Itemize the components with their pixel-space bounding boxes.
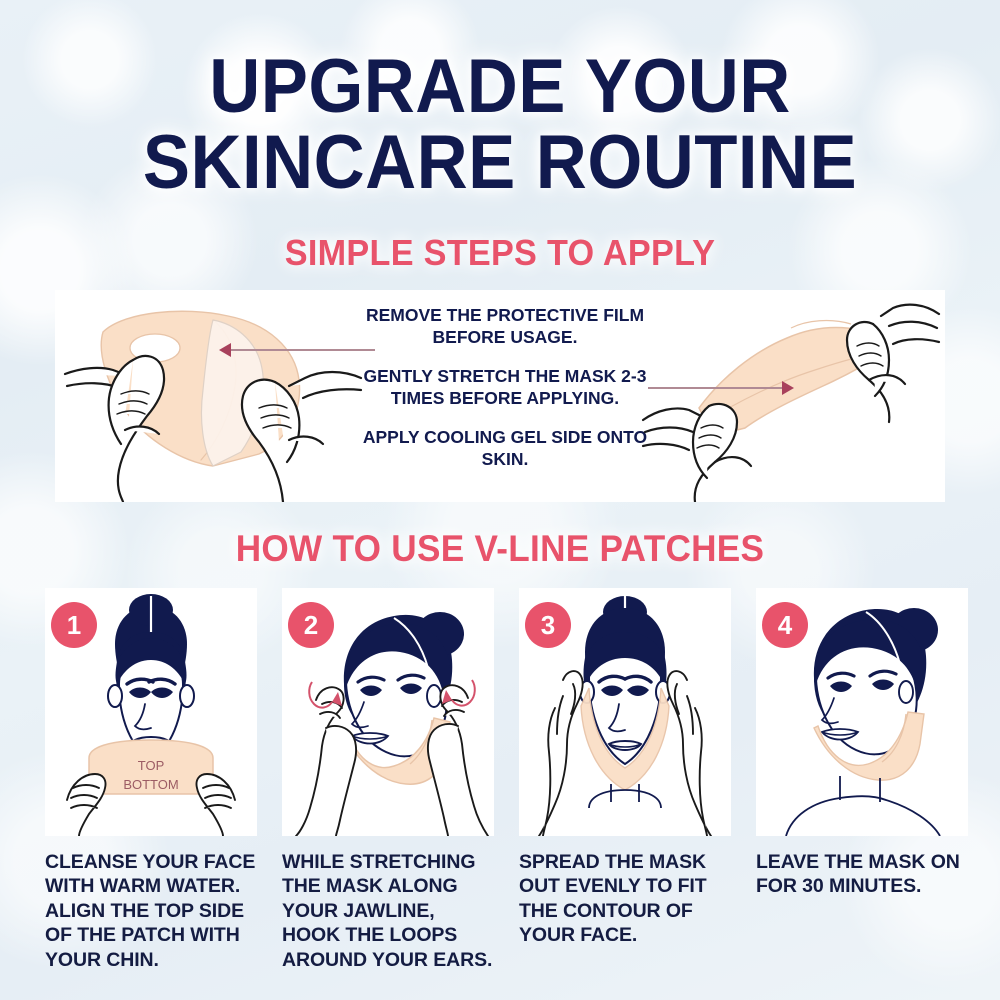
step-3-illustration: 3 <box>519 588 731 836</box>
step-number-badge-4: 4 <box>762 602 808 648</box>
step-card-2: 2 <box>282 588 494 972</box>
patch-label-bottom: BOTTOM <box>123 777 178 792</box>
step-2-illustration: 2 <box>282 588 494 836</box>
apply-instruction-list: REMOVE THE PROTECTIVE FILM BEFORE USAGE.… <box>355 304 655 470</box>
callout-line-right <box>648 387 788 389</box>
step-card-3: 3 <box>519 588 731 972</box>
subtitle: SIMPLE STEPS TO APPLY <box>25 232 975 274</box>
step-number-badge-2: 2 <box>288 602 334 648</box>
apply-instruction-1: REMOVE THE PROTECTIVE FILM BEFORE USAGE. <box>355 304 655 349</box>
arrow-right-icon <box>782 381 794 395</box>
steps-row: 1 TOP <box>45 588 955 972</box>
patch-label-top: TOP <box>138 758 165 773</box>
step-card-4: 4 <box>756 588 968 972</box>
step-number-badge-3: 3 <box>525 602 571 648</box>
page-title-line-1: UPGRADE YOUR <box>35 52 965 122</box>
step-card-1: 1 TOP <box>45 588 257 972</box>
infographic-canvas: UPGRADE YOUR SKINCARE ROUTINE SIMPLE STE… <box>0 0 1000 1000</box>
apply-instruction-3: APPLY COOLING GEL SIDE ONTO SKIN. <box>355 426 655 471</box>
arrow-left-icon <box>219 343 231 357</box>
apply-instruction-2: GENTLY STRETCH THE MASK 2-3 TIMES BEFORE… <box>355 365 655 410</box>
step-caption-4: LEAVE THE MASK ON FOR 30 MINUTES. <box>756 850 968 899</box>
callout-line-left <box>225 349 375 351</box>
hands-peeling-film-illustration <box>63 290 363 502</box>
apply-instructions-panel: REMOVE THE PROTECTIVE FILM BEFORE USAGE.… <box>55 290 945 502</box>
step-1-illustration: 1 TOP <box>45 588 257 836</box>
page-title-line-2: SKINCARE ROUTINE <box>35 128 965 198</box>
step-4-illustration: 4 <box>756 588 968 836</box>
step-caption-1: CLEANSE YOUR FACE WITH WARM WATER. ALIGN… <box>45 850 257 972</box>
step-caption-3: SPREAD THE MASK OUT EVENLY TO FIT THE CO… <box>519 850 731 948</box>
section-title: HOW TO USE V-LINE PATCHES <box>25 528 975 570</box>
step-caption-2: WHILE STRETCHING THE MASK ALONG YOUR JAW… <box>282 850 494 972</box>
step-number-badge-1: 1 <box>51 602 97 648</box>
hands-stretching-mask-illustration <box>641 290 941 502</box>
